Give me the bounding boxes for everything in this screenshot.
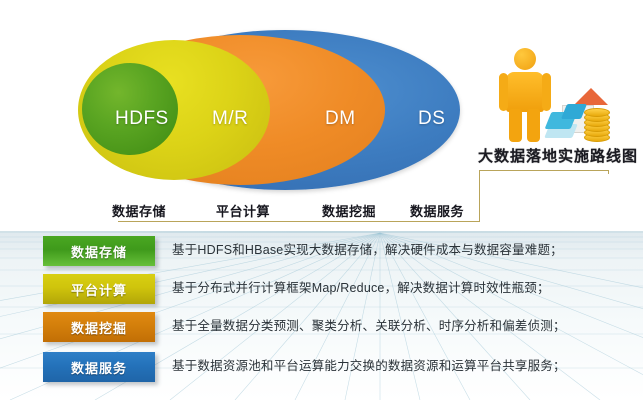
venn-diagram-panel: HDFS M/R DM DS 数据存储 平台计算 数据挖掘 数据服务 大数据落地… [0, 0, 643, 231]
layers-panel: 数据存储 基于HDFS和HBase实现大数据存储，解决硬件成本与数据容量难题； … [0, 231, 643, 400]
layer-row[interactable]: 数据服务 基于数据资源池和平台运算能力交换的数据资源和运算平台共享服务； [0, 351, 643, 389]
bracket-end-tick [608, 170, 609, 174]
layer-row[interactable]: 数据存储 基于HDFS和HBase实现大数据存储，解决硬件成本与数据容量难题； [0, 235, 643, 273]
bracket-top-line [479, 170, 609, 171]
house-roof-icon [574, 88, 608, 105]
layer-description: 基于HDFS和HBase实现大数据存储，解决硬件成本与数据容量难题； [172, 239, 642, 258]
bracket-vertical-line [479, 170, 480, 222]
layer-description: 基于分布式并行计算框架Map/Reduce，解决数据计算时效性瓶颈； [172, 277, 642, 296]
venn-caption-service: 数据服务 [410, 201, 464, 220]
venn-caption-storage: 数据存储 [112, 201, 166, 220]
person-left-leg-icon [509, 109, 522, 142]
ring-label-dm: DM [325, 108, 356, 130]
person-left-arm-icon [499, 73, 508, 111]
layer-badge-service[interactable]: 数据服务 [43, 352, 155, 382]
ring-label-hdfs: HDFS [115, 108, 169, 130]
person-right-leg-icon [527, 109, 540, 142]
venn-caption-mining: 数据挖掘 [322, 201, 376, 220]
layer-badge-mining[interactable]: 数据挖掘 [43, 312, 155, 342]
layer-row[interactable]: 数据挖掘 基于全量数据分类预测、聚类分析、关联分析、时序分析和偏差侦测； [0, 311, 643, 349]
bracket-horizontal-line [118, 221, 480, 222]
slide-root: HDFS M/R DM DS 数据存储 平台计算 数据挖掘 数据服务 大数据落地… [0, 0, 643, 400]
layer-badge-compute[interactable]: 平台计算 [43, 274, 155, 304]
person-with-assets-icon [492, 46, 612, 144]
roadmap-title: 大数据落地实施路线图 [478, 145, 638, 166]
person-body-icon [506, 72, 544, 112]
ring-label-mr: M/R [212, 108, 248, 130]
person-head-icon [514, 48, 536, 70]
coin-stack-icon [584, 106, 608, 140]
layer-description: 基于数据资源池和平台运算能力交换的数据资源和运算平台共享服务； [172, 355, 642, 374]
layer-badge-storage[interactable]: 数据存储 [43, 236, 155, 266]
person-right-arm-icon [542, 73, 551, 111]
layer-row[interactable]: 平台计算 基于分布式并行计算框架Map/Reduce，解决数据计算时效性瓶颈； [0, 273, 643, 311]
venn-caption-compute: 平台计算 [216, 201, 270, 220]
ring-label-ds: DS [418, 108, 445, 130]
layer-description: 基于全量数据分类预测、聚类分析、关联分析、时序分析和偏差侦测； [172, 315, 642, 334]
